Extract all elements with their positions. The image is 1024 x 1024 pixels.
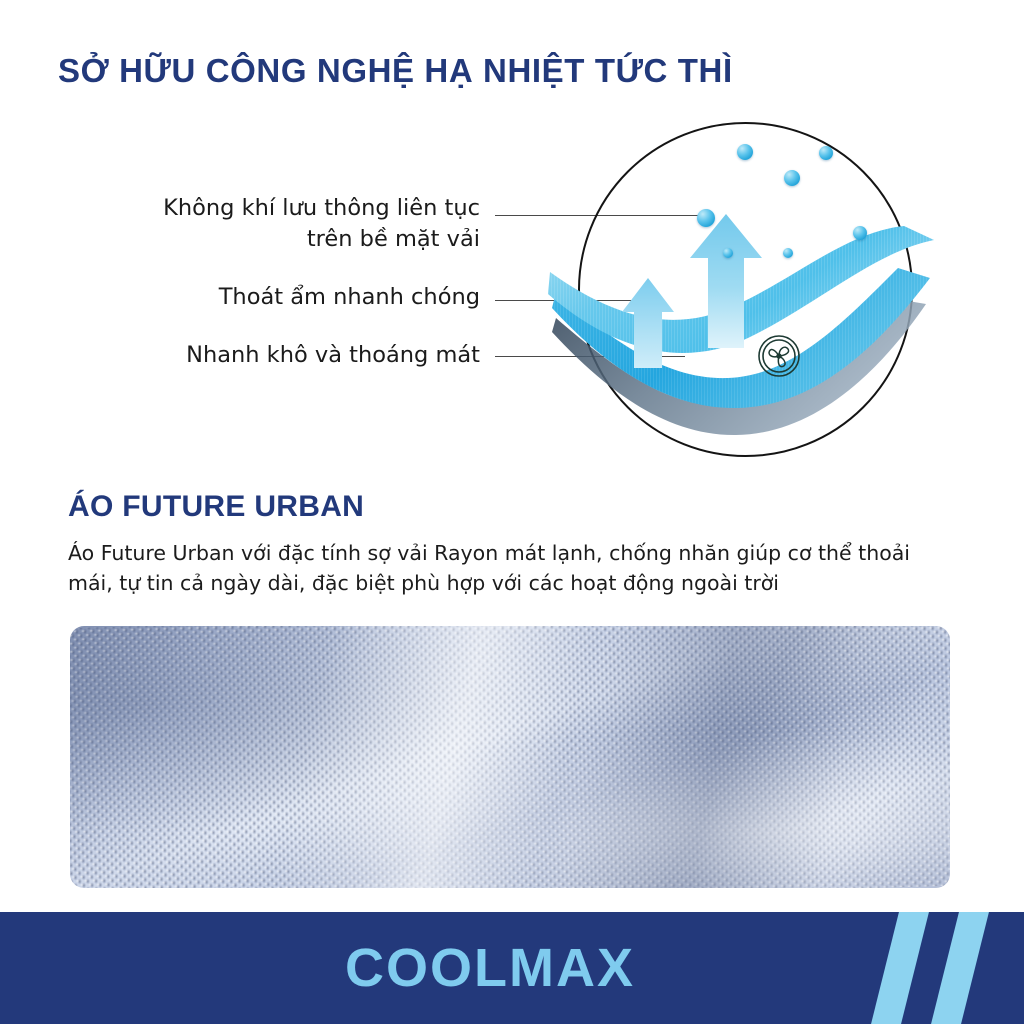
diagonal-stripe-icon bbox=[922, 912, 997, 1024]
fan-icon bbox=[758, 335, 800, 377]
water-droplet-icon bbox=[819, 146, 833, 160]
product-description: Áo Future Urban với đặc tính sợ vải Rayo… bbox=[68, 539, 948, 598]
page-title: SỞ HỮU CÔNG NGHỆ HẠ NHIỆT TỨC THÌ bbox=[58, 52, 733, 90]
callout-label-moisture-wicking: Thoát ẩm nhanh chóng bbox=[140, 282, 480, 313]
callout-label-quick-dry: Nhanh khô và thoáng mát bbox=[120, 340, 480, 371]
promo-page: SỞ HỮU CÔNG NGHỆ HẠ NHIỆT TỨC THÌ Không … bbox=[0, 0, 1024, 1024]
water-droplet-icon bbox=[737, 144, 753, 160]
fabric-sheen-overlay bbox=[70, 626, 950, 888]
water-droplet-icon bbox=[784, 170, 800, 186]
fabric-texture-image bbox=[70, 626, 950, 888]
callout-label-air-circulation: Không khí lưu thông liên tục trên bề mặt… bbox=[100, 193, 480, 255]
water-droplet-icon bbox=[723, 248, 733, 258]
diagonal-stripe-icon bbox=[862, 912, 937, 1024]
footer-bar: COOLMAX bbox=[0, 912, 1024, 1024]
brand-logo-text: COOLMAX bbox=[345, 937, 635, 999]
water-droplet-icon bbox=[697, 209, 715, 227]
cooling-fabric-illustration bbox=[578, 122, 913, 457]
water-droplet-icon bbox=[783, 248, 793, 258]
water-droplet-icon bbox=[853, 226, 867, 240]
fabric-layers-graphic bbox=[578, 122, 913, 457]
product-title: ÁO FUTURE URBAN bbox=[68, 490, 364, 524]
